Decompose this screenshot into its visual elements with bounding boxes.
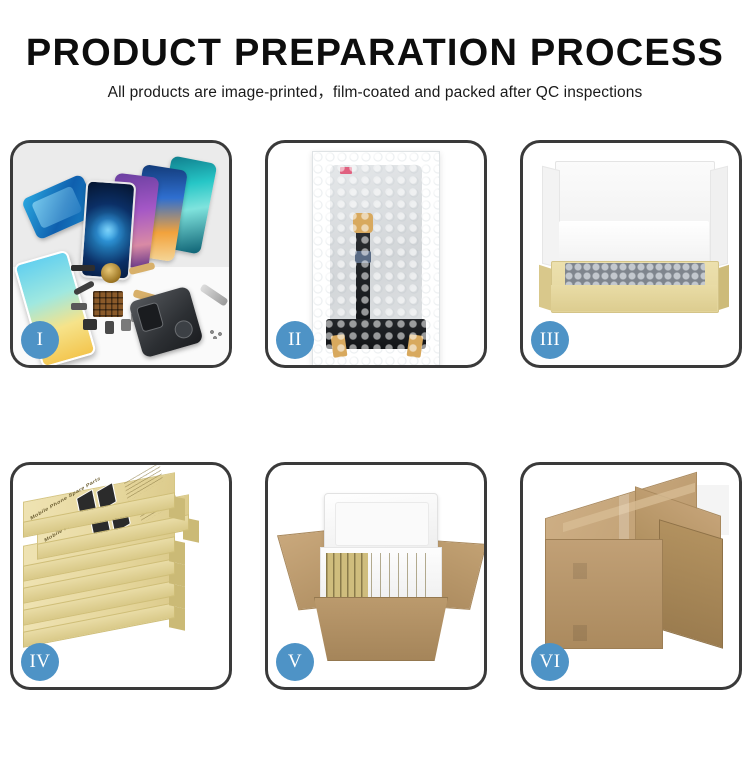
step-badge: IV — [21, 643, 59, 681]
carton-handle-tab-upper — [573, 563, 587, 579]
box-front-face — [551, 285, 717, 311]
infographic-page: PRODUCT PREPARATION PROCESS All products… — [0, 0, 750, 750]
step-badge: V — [276, 643, 314, 681]
step-badge: VI — [531, 643, 569, 681]
carton-front-face — [545, 539, 663, 649]
process-row-2: Mobile Phone Spare Parts Mobile P — [0, 462, 750, 692]
step-panel-carton-filled[interactable]: V — [265, 462, 487, 690]
lcd-screen-icon — [330, 165, 422, 343]
step-badge: I — [21, 321, 59, 359]
step-panel-sealed-carton[interactable]: VI — [520, 462, 742, 690]
carton-front-face — [314, 597, 448, 661]
header: PRODUCT PREPARATION PROCESS All products… — [0, 30, 750, 103]
step-badge: III — [531, 321, 569, 359]
small-part-icon-1 — [83, 319, 97, 330]
gold-boxes-fill-icon — [326, 553, 434, 597]
earpiece-mesh-icon — [71, 265, 95, 271]
process-row-1: I II — [0, 140, 750, 370]
speaker-coil-icon — [101, 263, 121, 283]
page-title: PRODUCT PREPARATION PROCESS — [0, 30, 750, 76]
foam-lid-icon — [324, 493, 438, 555]
display-flex-cable-icon — [356, 229, 370, 321]
lcd-label-tag-icon — [340, 167, 352, 174]
chip-grid-icon — [93, 291, 123, 317]
screws-icon — [209, 329, 225, 339]
page-subtitle: All products are image-printed，film-coat… — [0, 83, 750, 103]
step-panel-bubble-wrapped-screen[interactable]: II — [265, 140, 487, 368]
step-badge: II — [276, 321, 314, 359]
small-part-icon-2 — [105, 321, 114, 334]
step-panel-stacked-retail-boxes[interactable]: Mobile Phone Spare Parts Mobile P — [10, 462, 232, 690]
step-panel-inner-box-foam[interactable]: III — [520, 140, 742, 368]
carton-handle-tab-lower — [573, 625, 587, 641]
small-part-icon-4 — [71, 303, 87, 310]
small-part-icon-3 — [121, 319, 131, 331]
stacked-box-labeled: Mobile Phone Spare Parts — [23, 487, 173, 507]
process-grid: I II — [0, 140, 750, 784]
step-panel-raw-parts[interactable]: I — [10, 140, 232, 368]
carton-side-face — [659, 519, 723, 649]
gold-connector-icon-left — [331, 334, 348, 358]
